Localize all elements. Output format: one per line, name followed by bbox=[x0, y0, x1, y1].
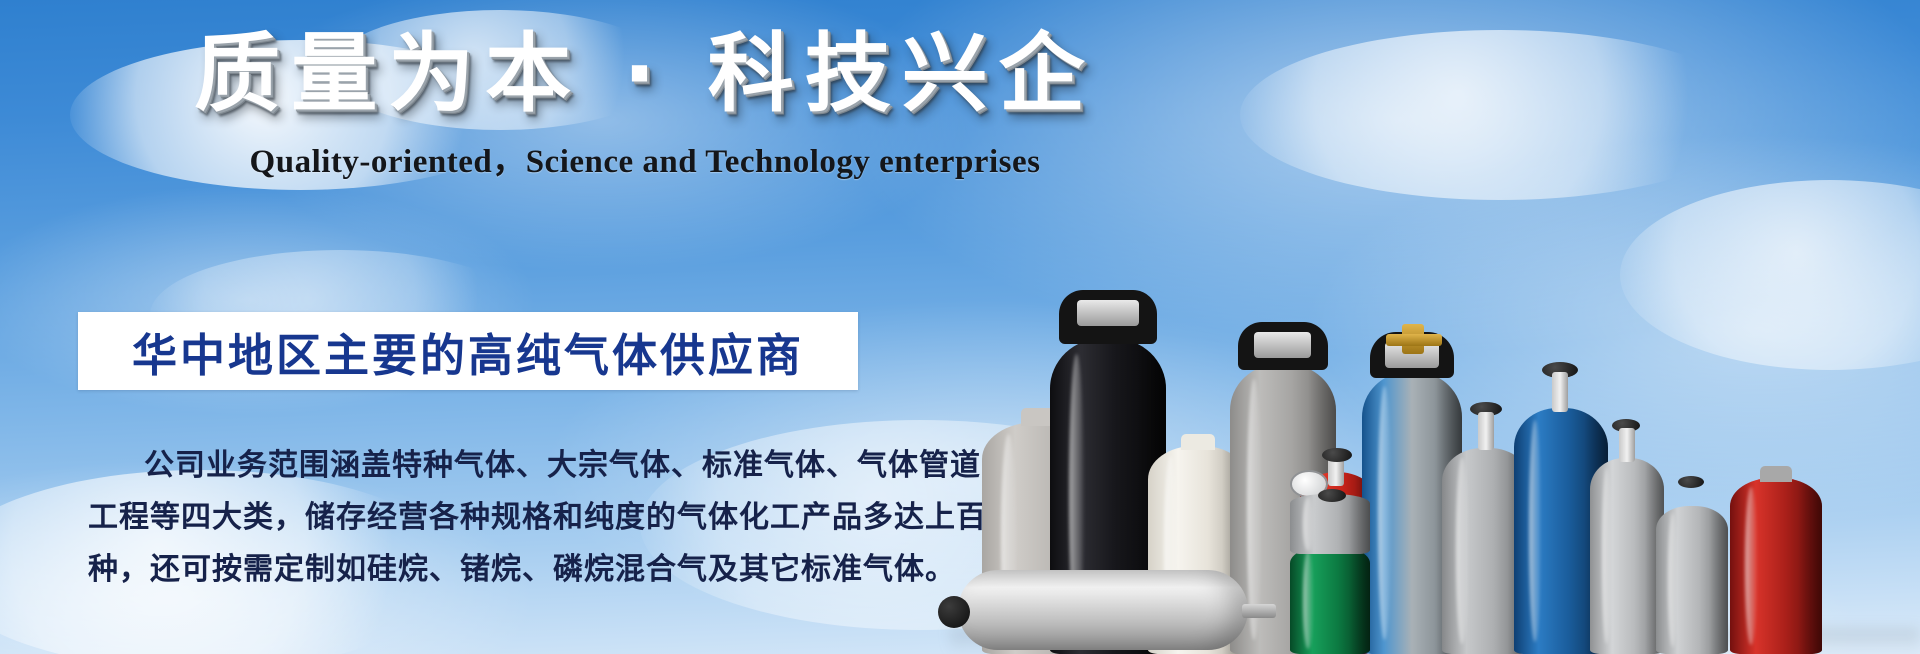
valve-knob bbox=[1322, 448, 1352, 462]
valve-knob bbox=[1318, 489, 1346, 502]
valve-knob bbox=[1678, 476, 1704, 488]
brass-valve-arm bbox=[1386, 334, 1442, 346]
body-line: 工程等四大类，储存经营各种规格和纯度的气体化工产品多达上百 bbox=[88, 492, 878, 544]
aluminium-cylinder bbox=[1590, 422, 1664, 654]
slogan-highlight-box: 华中地区主要的高纯气体供应商 bbox=[78, 312, 858, 390]
body-line: 种，还可按需定制如硅烷、锗烷、磷烷混合气及其它标准气体。 bbox=[88, 544, 878, 596]
body-line: 公司业务范围涵盖特种气体、大宗气体、标准气体、气体管道 bbox=[88, 440, 878, 492]
slogan-text: 华中地区主要的高纯气体供应商 bbox=[132, 319, 804, 384]
body-paragraph: 公司业务范围涵盖特种气体、大宗气体、标准气体、气体管道 工程等四大类，储存经营各… bbox=[88, 440, 878, 596]
green-cylinder bbox=[1290, 494, 1370, 654]
lying-cylinder-nozzle bbox=[1242, 604, 1276, 618]
dark-red-cylinder bbox=[1730, 452, 1822, 654]
promo-banner: 质量为本 · 科技兴企 Quality-oriented，Science and… bbox=[0, 0, 1920, 654]
lying-grey-cylinder bbox=[958, 570, 1248, 650]
gas-cylinder-group-image bbox=[930, 150, 1920, 654]
page-title: 质量为本 · 科技兴企 bbox=[0, 22, 1290, 127]
aluminium-cylinder bbox=[1656, 478, 1728, 654]
lying-cylinder-valve bbox=[938, 596, 970, 628]
